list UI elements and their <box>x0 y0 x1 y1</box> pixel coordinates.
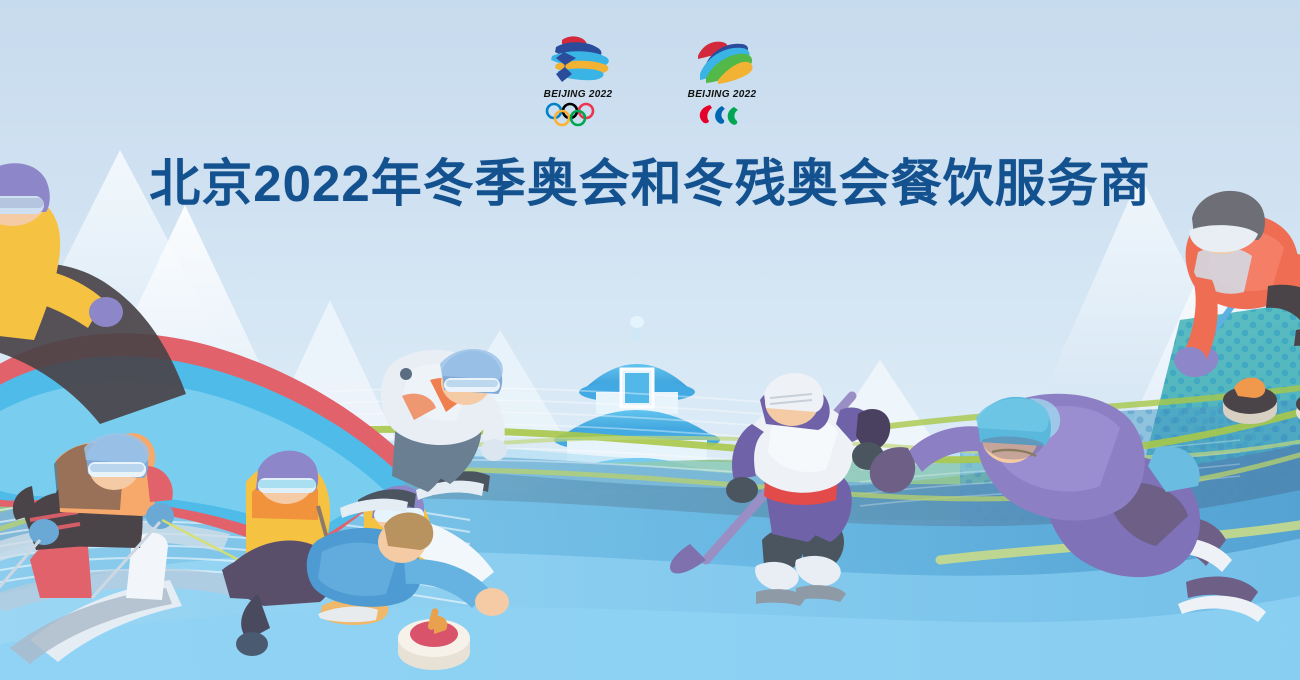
curling-stone-red <box>398 608 470 670</box>
curling-stone-orange-2 <box>1296 382 1300 426</box>
athlete-ice-hockey <box>670 373 890 606</box>
agitos-icon <box>692 102 752 128</box>
athlete-speed-skater-right <box>870 394 1266 622</box>
beijing-2022-catering-banner: BEIJING 2022 <box>0 0 1300 680</box>
olympic-rings-icon <box>540 102 616 128</box>
olympic-wordmark: BEIJING 2022 <box>528 89 628 100</box>
athlete-curler-sweeper <box>1174 191 1300 426</box>
beijing-2022-olympic-emblem: BEIJING 2022 <box>528 30 628 128</box>
page-title: 北京2022年冬季奥会和冬残奥会餐饮服务商 <box>0 142 1300 216</box>
paralympic-fly-mark-icon <box>672 30 772 88</box>
beijing-2022-paralympic-emblem: BEIJING 2022 <box>672 30 772 128</box>
emblem-row-container: BEIJING 2022 <box>0 30 1300 128</box>
curling-stone-orange-1 <box>1223 378 1277 424</box>
page-title-text: 北京2022年冬季奥会和冬残奥会餐饮服务商 <box>149 155 1150 212</box>
olympic-winter-mark-icon <box>528 30 628 88</box>
paralympic-wordmark: BEIJING 2022 <box>672 89 772 100</box>
